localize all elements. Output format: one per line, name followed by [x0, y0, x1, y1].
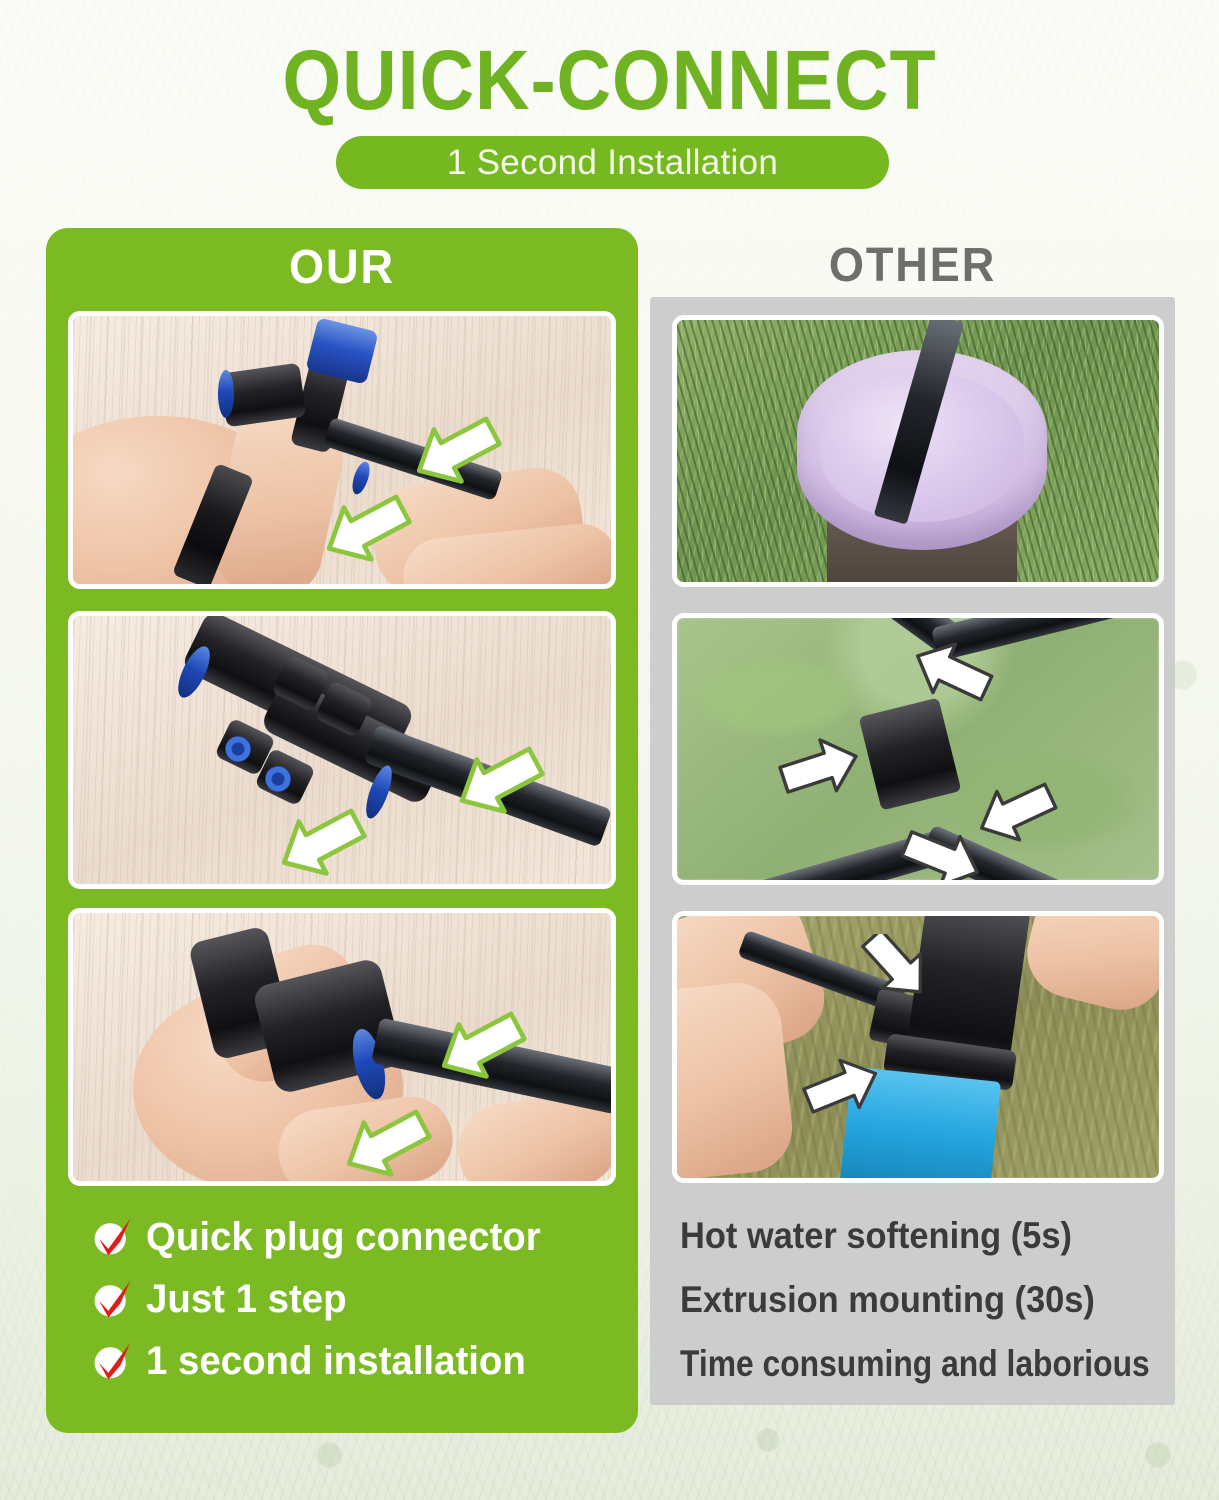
finger: [1018, 911, 1164, 1019]
other-photo-1: [672, 315, 1164, 587]
photo-scene-wood-table: [73, 616, 611, 884]
photo-overlay: [677, 916, 1159, 1178]
finger: [672, 979, 797, 1183]
arrow-right-icon: [777, 736, 863, 800]
blue-port-ring: [265, 766, 291, 792]
arrow-up-right-icon: [899, 826, 985, 885]
list-item: Quick plug connector: [90, 1206, 630, 1268]
photo-overlay: [677, 618, 1159, 880]
arrow-up-left-icon: [973, 780, 1059, 844]
arrow-up-left-icon: [451, 746, 547, 816]
arrow-up-right-icon: [801, 1056, 883, 1118]
our-photo-2: [68, 611, 616, 889]
arrow-up-left-icon: [338, 1109, 434, 1179]
other-drawbacks-list: Hot water softening (5s) Extrusion mount…: [680, 1204, 1160, 1396]
other-photo-3: [672, 911, 1164, 1183]
blue-port-ring: [225, 736, 251, 762]
arrow-up-left-icon: [318, 494, 414, 564]
photo-scene-wood-table: [73, 913, 611, 1181]
list-item-label: 1 second installation: [146, 1338, 526, 1384]
list-item-label: Extrusion mounting (30s): [680, 1278, 1095, 1322]
cross-junction-fitting: [859, 698, 962, 811]
our-column-heading: OUR: [64, 240, 620, 296]
our-benefits-list: Quick plug connector Just 1 step 1 secon…: [90, 1206, 630, 1392]
photo-scene-wood-table: [73, 316, 611, 584]
arrow-down-right-icon: [855, 934, 937, 996]
list-item-label: Time consuming and laborious: [680, 1342, 1150, 1386]
arrow-up-left-icon: [433, 1011, 529, 1081]
list-item: Hot water softening (5s): [680, 1204, 1160, 1268]
other-photo-2: [672, 613, 1164, 885]
red-check-icon: [90, 1339, 134, 1383]
other-column-heading: OTHER: [666, 238, 1160, 294]
list-item: Time consuming and laborious: [680, 1332, 1160, 1396]
arrow-up-left-icon: [273, 808, 369, 878]
our-photo-1: [68, 311, 616, 589]
list-item: Extrusion mounting (30s): [680, 1268, 1160, 1332]
arrow-up-left-icon: [408, 416, 504, 486]
installation-time-badge: 1 Second Installation: [336, 136, 889, 189]
red-check-icon: [90, 1277, 134, 1321]
list-item: Just 1 step: [90, 1268, 630, 1330]
blue-ring: [218, 370, 234, 418]
our-photo-3: [68, 908, 616, 1186]
arrow-down-left-icon: [909, 640, 995, 704]
list-item-label: Just 1 step: [146, 1276, 347, 1322]
blue-ring: [349, 460, 373, 497]
red-check-icon: [90, 1215, 134, 1259]
page-title: QUICK-CONNECT: [61, 36, 1158, 124]
list-item-label: Quick plug connector: [146, 1214, 541, 1260]
list-item-label: Hot water softening (5s): [680, 1214, 1072, 1258]
list-item: 1 second installation: [90, 1330, 630, 1392]
photo-scene-grass: [677, 320, 1159, 582]
